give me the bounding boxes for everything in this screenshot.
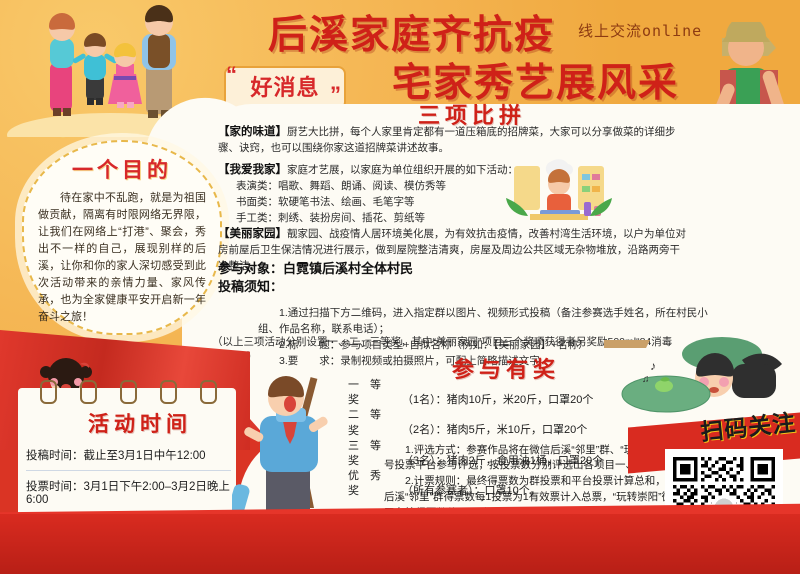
contest-subline-2-3: 手工类：刺绣、装扮房间、插花、剪纸等 (236, 211, 688, 227)
contest-tag-3: 【美丽家园】 (218, 228, 287, 240)
contest-text-1: 厨艺大比拼，每个人家里肯定都有一道压箱底的招牌菜，大家可以分享做菜的详细步骤、诀… (218, 126, 676, 154)
prize-reward: ：猪肉5斤，米10斤，口罩20个 (436, 425, 588, 437)
submission-notice-label: 投稿须知： (218, 276, 283, 295)
contest-subline-2-2: 书面类：软硬笔书法、绘画、毛笔字等 (236, 195, 688, 211)
participation-target-value: 白霓镇后溪村全体村民 (283, 261, 413, 276)
purpose-body: 待在家中不乱跑，就是为祖国做贡献，隔离有时限网络无界限，让我们在网络上“打港”、… (38, 190, 206, 326)
schedule-value: 截止至3月1日中午12:00 (84, 450, 206, 462)
contest-text-2: 家庭才艺展，以家庭为单位组织开展的如下活动： (287, 164, 518, 176)
prize-rank: 一 等 奖 (348, 378, 402, 408)
cooking-boy-illustration (500, 158, 618, 230)
notebook-ring (40, 380, 57, 404)
decor-red-band (0, 514, 800, 574)
prize-reward: ：猪肉10斤，米20斤，口罩20个 (436, 394, 594, 406)
poster-root: 后溪家庭齐抗疫 宅家秀艺展风采 线上交流online 好消息 “ ” 一个目的 … (0, 0, 800, 574)
participation-target-label: 参与对象： (218, 261, 283, 276)
contest-tag-2: 【我爱我家】 (218, 164, 287, 176)
prize-count: （2名） (402, 425, 436, 437)
participation-target: 参与对象：白霓镇后溪村全体村民 (218, 258, 413, 277)
schedule-row: 投票时间：3月1日下午2:00–3月2日晚上6:00 (26, 471, 231, 514)
svg-text:♪: ♪ (650, 359, 656, 373)
contest-block-1: 【家的味道】厨艺大比拼，每个人家里肯定都有一道压箱底的招牌菜，大家可以分享做菜的… (218, 124, 688, 157)
purpose-title: 一个目的 (72, 154, 172, 184)
good-news-label: 好消息 (226, 70, 344, 102)
schedule-heading: 活动时间 (88, 408, 192, 438)
notebook-ring (120, 380, 137, 404)
prize-rank: 二 等 奖 (348, 408, 402, 438)
prize-count: （1名） (402, 394, 436, 406)
schedule-row: 投稿时间：截止至3月1日中午12:00 (26, 440, 231, 471)
notebook-ring (80, 380, 97, 404)
contest-subline-2-1: 表演类：唱歌、舞蹈、朗诵、阅读、模仿秀等 (236, 179, 688, 195)
quote-open: “ (226, 62, 237, 88)
svg-text:♫: ♫ (642, 374, 650, 385)
purpose-card: 一个目的 待在家中不乱跑，就是为祖国做贡献，隔离有时限网络无界限，让我们在网络上… (22, 140, 222, 335)
contest-tag-1: 【家的味道】 (218, 126, 287, 138)
schedule-label: 投票时间： (26, 481, 84, 493)
notebook-ring (160, 380, 177, 404)
notebook-ring (200, 380, 217, 404)
online-tag: 线上交流online (578, 20, 702, 41)
schedule-label: 投稿时间： (26, 450, 84, 462)
